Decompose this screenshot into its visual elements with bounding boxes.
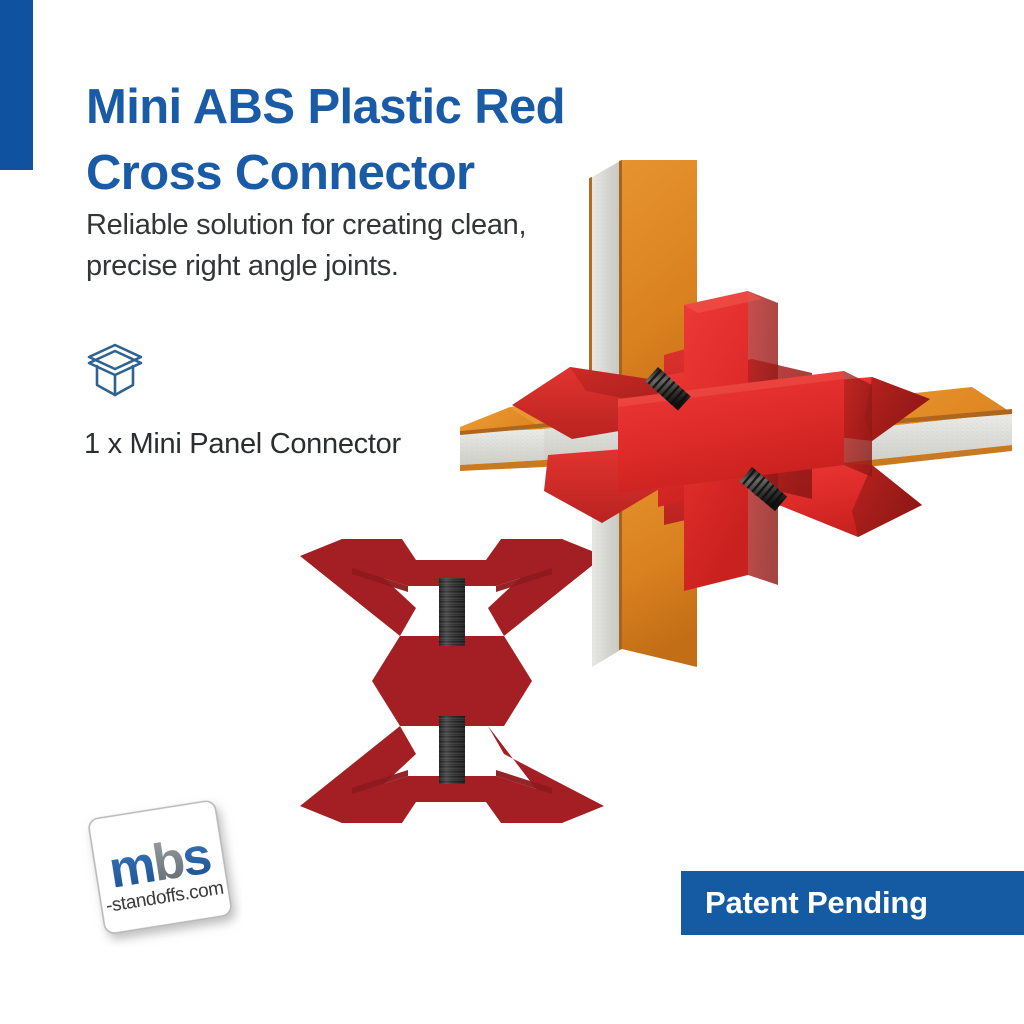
3d-cross-connector-render xyxy=(452,155,1018,670)
product-marketing-card: Mini ABS Plastic Red Cross Connector Rel… xyxy=(0,0,1024,1024)
headline-line-1: Mini ABS Plastic Red xyxy=(86,80,565,134)
package-contents: 1 x Mini Panel Connector xyxy=(84,342,504,464)
package-contents-label: 1 x Mini Panel Connector xyxy=(84,398,504,464)
headline-line-2: Cross Connector xyxy=(86,146,475,200)
patent-pending-badge: Patent Pending xyxy=(681,871,1024,935)
brand-logo: mbs -standoffs.com xyxy=(80,795,242,947)
open-box-icon xyxy=(84,342,146,398)
patent-pending-label: Patent Pending xyxy=(681,885,928,921)
accent-bar xyxy=(0,0,33,170)
lower-threaded-screw xyxy=(439,716,465,784)
subtitle-line-2: precise right angle joints. xyxy=(86,250,399,282)
